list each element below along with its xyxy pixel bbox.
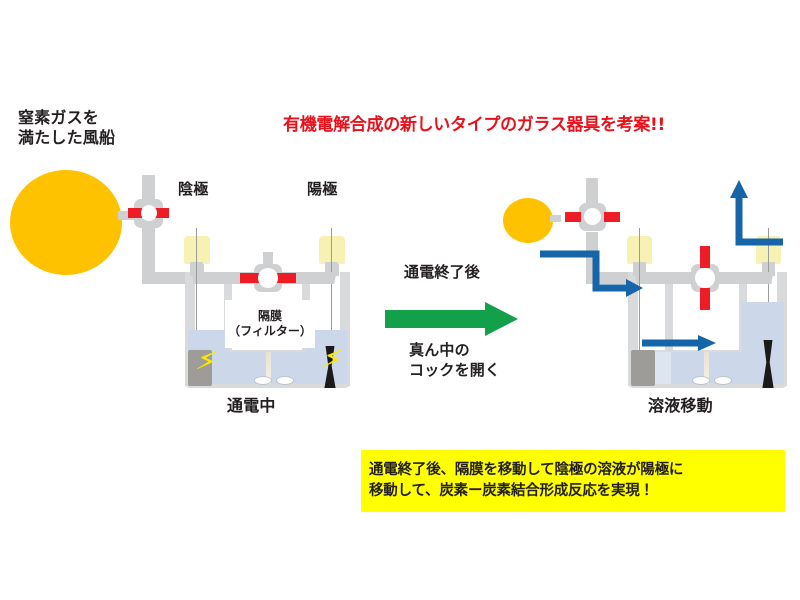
footnote-text: 通電終了後、隔膜を移動して陰極の溶液が陽極に 移動して、炭素ー炭素結合形成反応を… bbox=[361, 460, 683, 502]
stir-bar bbox=[254, 376, 272, 385]
valve-hub bbox=[141, 205, 157, 221]
blue-arrow-icon bbox=[705, 180, 785, 248]
left-panel-caption: 通電中 bbox=[227, 396, 276, 416]
cathode-septum-cap bbox=[184, 236, 210, 264]
center-valve-arm-top bbox=[700, 246, 710, 268]
center-valve-arm-bottom bbox=[700, 288, 710, 310]
valve-hub bbox=[584, 208, 601, 225]
blue-arrow-icon bbox=[538, 248, 643, 310]
stir-bar bbox=[714, 376, 732, 385]
balloon-neck bbox=[550, 215, 561, 222]
valve-arm-left bbox=[128, 208, 142, 218]
membrane-callout: 隔膜 （フィルター） bbox=[225, 300, 315, 348]
upper-bridge-right bbox=[718, 272, 770, 284]
cathode-label: 陰極 bbox=[178, 180, 208, 198]
right-apparatus-panel bbox=[490, 0, 800, 440]
step-bottom-label: 真ん中の コックを開く bbox=[409, 341, 500, 380]
valve-arm-left bbox=[565, 212, 581, 222]
center-stopcock-stem bbox=[263, 252, 273, 268]
anode-septum-cap bbox=[319, 236, 345, 264]
balloon-icon bbox=[503, 198, 553, 243]
center-valve-hub bbox=[695, 268, 715, 288]
valve-arm-right bbox=[604, 212, 620, 222]
valve-arm-right bbox=[155, 208, 169, 218]
blue-arrow-icon bbox=[642, 334, 716, 352]
upper-bridge-left bbox=[642, 272, 692, 284]
footnote-box: 通電終了後、隔膜を移動して陰極の溶液が陽極に 移動して、炭素ー炭素結合形成反応を… bbox=[361, 450, 785, 512]
stir-bar bbox=[692, 376, 710, 385]
balloon-icon bbox=[10, 170, 122, 275]
center-valve-hub bbox=[258, 268, 278, 288]
center-valve-arm-right bbox=[276, 273, 296, 283]
figure-canvas: ⚡ ⚡ 隔膜 （フィルター） 窒素ガスを 満たした風船 陰極 陽極 通電中 通電… bbox=[0, 0, 800, 600]
stir-bar bbox=[276, 376, 294, 385]
membrane-label: 隔膜 （フィルター） bbox=[228, 309, 312, 339]
left-apparatus-panel: ⚡ ⚡ 隔膜 （フィルター） bbox=[0, 0, 390, 440]
gas-inlet-tube bbox=[586, 178, 598, 204]
step-top-label: 通電終了後 bbox=[404, 263, 480, 281]
anode-label: 陽極 bbox=[307, 180, 337, 198]
center-valve-arm-left bbox=[240, 273, 260, 283]
right-panel-caption: 溶液移動 bbox=[648, 396, 713, 416]
balloon-label: 窒素ガスを 満たした風船 bbox=[18, 108, 115, 147]
cathode-plate-electrode bbox=[631, 350, 655, 386]
